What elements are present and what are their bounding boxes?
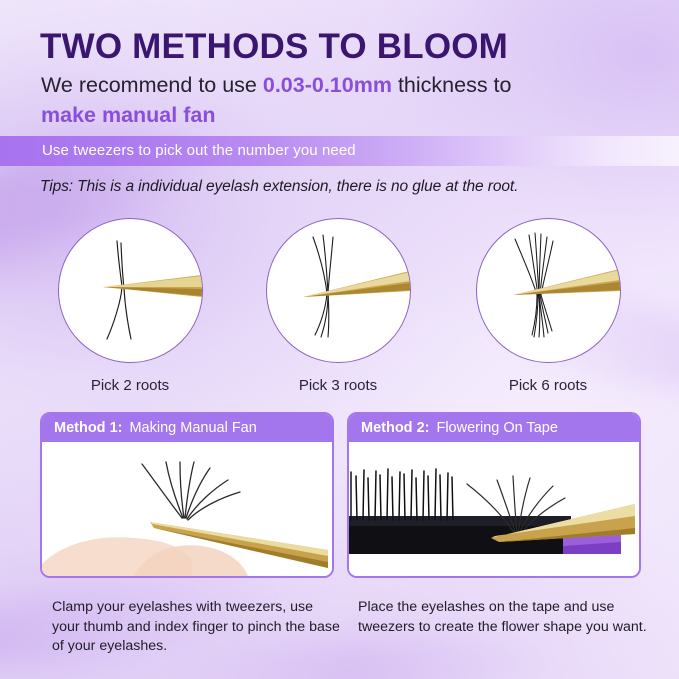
method-label: Method 2: [361, 420, 429, 436]
pick-roots-item-1: Pick 2 roots [40, 218, 220, 394]
method-2-caption: Place the eyelashes on the tape and use … [358, 598, 650, 637]
pick-roots-caption: Pick 3 roots [248, 377, 428, 394]
method-name: Making Manual Fan [129, 420, 256, 436]
lash-tweezer-illustration [267, 219, 410, 362]
method-1-illustration [42, 442, 328, 576]
instruction-banner-text: Use tweezers to pick out the number you … [42, 142, 356, 159]
method-label: Method 1: [54, 420, 122, 436]
tweezer-with-2-lashes-icon [58, 218, 203, 363]
thickness-value: 0.03-0.10mm [263, 73, 392, 97]
tweezer-with-6-lashes-icon [476, 218, 621, 363]
pick-roots-item-3: Pick 6 roots [458, 218, 638, 394]
tips-text: Tips: This is a individual eyelash exten… [40, 178, 518, 196]
lash-tweezer-illustration [59, 219, 202, 362]
method-panel-2-header: Method 2: Flowering On Tape [349, 414, 639, 442]
subtitle-line-two: make manual fan [41, 102, 641, 128]
subtitle-text-after: thickness to [392, 73, 512, 97]
subtitle-text-before: We recommend to use [41, 73, 263, 97]
method-1-caption: Clamp your eyelashes with tweezers, use … [52, 598, 344, 657]
subtitle: We recommend to use 0.03-0.10mm thicknes… [41, 72, 641, 128]
lash-tweezer-illustration [477, 219, 620, 362]
method-2-illustration [349, 442, 635, 576]
pick-roots-row: Pick 2 roots Pick 3 roots [0, 218, 679, 398]
page-title: TWO METHODS TO BLOOM [40, 27, 508, 67]
pick-roots-caption: Pick 6 roots [458, 377, 638, 394]
lashes-on-black-tape-with-tweezers-photo [349, 442, 639, 576]
hand-pinching-lash-fan-with-tweezers-photo [42, 442, 332, 576]
pick-roots-caption: Pick 2 roots [40, 377, 220, 394]
method-panel-1-header: Method 1: Making Manual Fan [42, 414, 332, 442]
tweezer-with-3-lashes-icon [266, 218, 411, 363]
method-panel-2: Method 2: Flowering On Tape [347, 412, 641, 578]
method-panel-1: Method 1: Making Manual Fan [40, 412, 334, 578]
pick-roots-item-2: Pick 3 roots [248, 218, 428, 394]
infographic-page: TWO METHODS TO BLOOM We recommend to use… [0, 0, 679, 679]
method-name: Flowering On Tape [436, 420, 557, 436]
